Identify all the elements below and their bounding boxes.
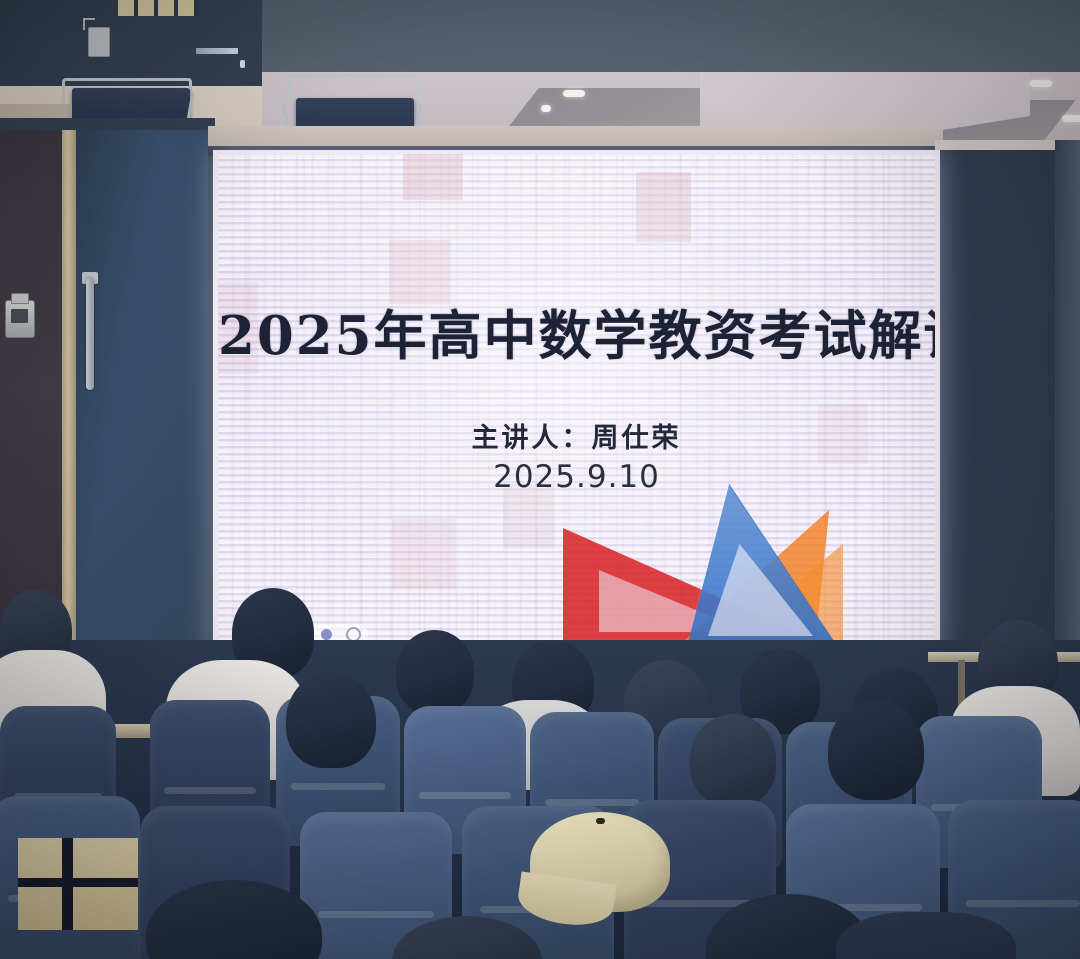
left-wall-dark-column bbox=[0, 130, 64, 650]
slide-title: 2025年高中数学教资考试解读 bbox=[218, 294, 935, 370]
fire-alarm-device-icon bbox=[5, 300, 35, 338]
audience-head bbox=[690, 714, 776, 806]
slide-color-patch bbox=[392, 519, 456, 589]
pointer-icon[interactable] bbox=[321, 629, 332, 640]
downlight-icon bbox=[563, 90, 585, 97]
audience-torso-foreground bbox=[836, 912, 1016, 959]
door-jamb bbox=[62, 130, 76, 650]
audience-head bbox=[828, 700, 924, 800]
projection-screen-frame: 2025年高中数学教资考试解读 主讲人：周仕荣 2025.9.10 bbox=[213, 150, 940, 660]
downlight-icon bbox=[541, 105, 551, 112]
slide-presenter: 主讲人：周仕荣 bbox=[218, 416, 935, 455]
lecture-hall-photo: 2025年高中数学教资考试解读 主讲人：周仕荣 2025.9.10 bbox=[0, 0, 1080, 959]
ceiling-sensor-icon bbox=[240, 60, 245, 68]
set-square-graphic bbox=[563, 484, 893, 656]
ceiling-light-strip bbox=[196, 48, 238, 54]
projection-screen: 2025年高中数学教资考试解读 主讲人：周仕荣 2025.9.10 bbox=[218, 154, 935, 656]
audience-head bbox=[396, 630, 474, 714]
door-handle[interactable] bbox=[86, 278, 94, 390]
cap-button-icon bbox=[596, 818, 605, 824]
side-door[interactable] bbox=[76, 130, 208, 650]
right-wall-edge bbox=[1055, 140, 1080, 680]
ceiling-junction-box bbox=[88, 27, 110, 57]
audience-head bbox=[286, 672, 376, 768]
vent-grille bbox=[118, 0, 198, 16]
slide-color-patch bbox=[403, 154, 463, 200]
slide-color-patch bbox=[636, 172, 691, 242]
downlight-icon bbox=[1062, 115, 1080, 122]
downlight-icon bbox=[1030, 80, 1052, 87]
wall-band bbox=[208, 126, 943, 148]
floor-sign-mark-h bbox=[18, 878, 138, 887]
